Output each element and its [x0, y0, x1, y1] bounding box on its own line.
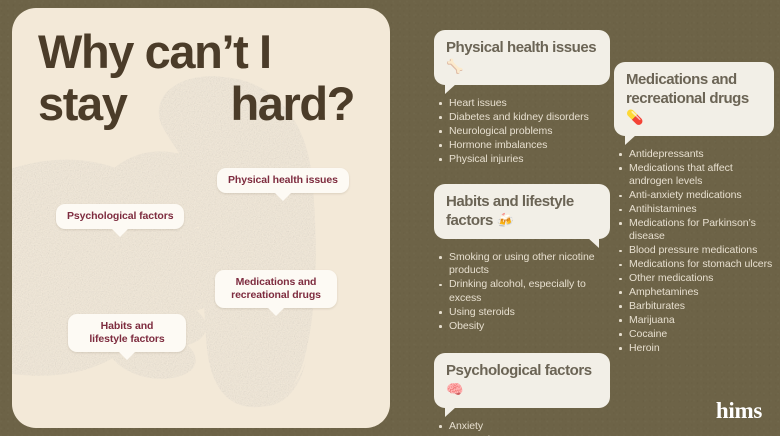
hero-card: Why can’t I stayhard? Physical health is… — [12, 8, 390, 428]
section-psychological-factors: Psychological factors 🧠 Anxiety Depressi… — [434, 353, 610, 436]
section-medications-and-recreational-drugs: Medications and recreational drugs 💊 Ant… — [614, 62, 774, 355]
callout-tail-icon — [118, 351, 136, 360]
section-heading-bubble: Habits and lifestyle factors 🍻 — [434, 184, 610, 239]
list-item: Anti-anxiety medications — [617, 189, 774, 202]
brain-icon: 🧠 — [446, 381, 463, 397]
bone-icon: 🦴 — [446, 58, 463, 74]
content-column-left: Physical health issues 🦴 Heart issues Di… — [434, 30, 610, 436]
list-item: Medications for stomach ulcers — [617, 258, 774, 271]
section-physical-health-issues: Physical health issues 🦴 Heart issues Di… — [434, 30, 610, 166]
list-item: Amphetamines — [617, 286, 774, 299]
callout-physical-health-issues[interactable]: Physical health issues — [217, 168, 349, 193]
callout-label: Physical health issues — [228, 174, 338, 186]
infographic-canvas: Why can’t I stayhard? Physical health is… — [0, 0, 780, 436]
callout-tail-icon — [111, 228, 129, 237]
callout-label-line-1: Medications and — [236, 276, 317, 288]
section-list: Heart issues Diabetes and kidney disorde… — [434, 97, 610, 166]
pill-icon: 💊 — [626, 109, 643, 125]
section-habits-and-lifestyle-factors: Habits and lifestyle factors 🍻 Smoking o… — [434, 184, 610, 333]
list-item: Obesity — [437, 320, 610, 333]
list-item: Smoking or using other nicotine products — [437, 251, 610, 278]
list-item: Diabetes and kidney disorders — [437, 111, 610, 124]
section-list: Smoking or using other nicotine products… — [434, 251, 610, 333]
hims-logo: hims — [716, 398, 762, 424]
list-item: Neurological problems — [437, 125, 610, 138]
section-heading: Medications and recreational drugs — [626, 71, 749, 107]
bubble-tail-icon — [445, 407, 456, 417]
list-item: Blood pressure medications — [617, 244, 774, 257]
callout-psychological-factors[interactable]: Psychological factors — [56, 204, 184, 229]
callout-label: Psychological factors — [67, 210, 173, 222]
section-heading-bubble: Physical health issues 🦴 — [434, 30, 610, 85]
callout-label-line-1: Habits and — [101, 320, 154, 332]
content-column-right: Medications and recreational drugs 💊 Ant… — [614, 62, 774, 368]
list-item: Physical injuries — [437, 153, 610, 166]
bubble-tail-icon — [588, 238, 599, 248]
list-item: Using steroids — [437, 306, 610, 319]
list-item: Cocaine — [617, 328, 774, 341]
callout-habits-and-lifestyle-factors[interactable]: Habits and lifestyle factors — [68, 314, 186, 352]
callout-tail-icon — [267, 307, 285, 316]
section-list: Antidepressants Medications that affect … — [614, 148, 774, 355]
callout-medications-and-recreational-drugs[interactable]: Medications and recreational drugs — [215, 270, 337, 308]
callout-label-line-2: lifestyle factors — [89, 333, 164, 345]
list-item: Other medications — [617, 272, 774, 285]
callout-label-line-2: recreational drugs — [231, 289, 321, 301]
section-heading-bubble: Medications and recreational drugs 💊 — [614, 62, 774, 136]
list-item: Heroin — [617, 342, 774, 355]
callout-tail-icon — [274, 192, 292, 201]
section-list: Anxiety Depression Stress — [434, 420, 610, 436]
list-item: Heart issues — [437, 97, 610, 110]
beer-mugs-icon: 🍻 — [497, 212, 514, 228]
list-item: Medications for Parkinson’s disease — [617, 217, 774, 244]
list-item: Antihistamines — [617, 203, 774, 216]
list-item: Marijuana — [617, 314, 774, 327]
section-heading: Psychological factors — [446, 362, 592, 379]
bubble-tail-icon — [445, 84, 456, 94]
bubble-tail-icon — [625, 135, 636, 145]
list-item: Hormone imbalances — [437, 139, 610, 152]
section-heading: Physical health issues — [446, 39, 596, 56]
list-item: Barbiturates — [617, 300, 774, 313]
section-heading-bubble: Psychological factors 🧠 — [434, 353, 610, 408]
list-item: Medications that affect androgen levels — [617, 162, 774, 189]
list-item: Drinking alcohol, especially to excess — [437, 278, 610, 305]
list-item: Anxiety — [437, 420, 610, 433]
list-item: Antidepressants — [617, 148, 774, 161]
